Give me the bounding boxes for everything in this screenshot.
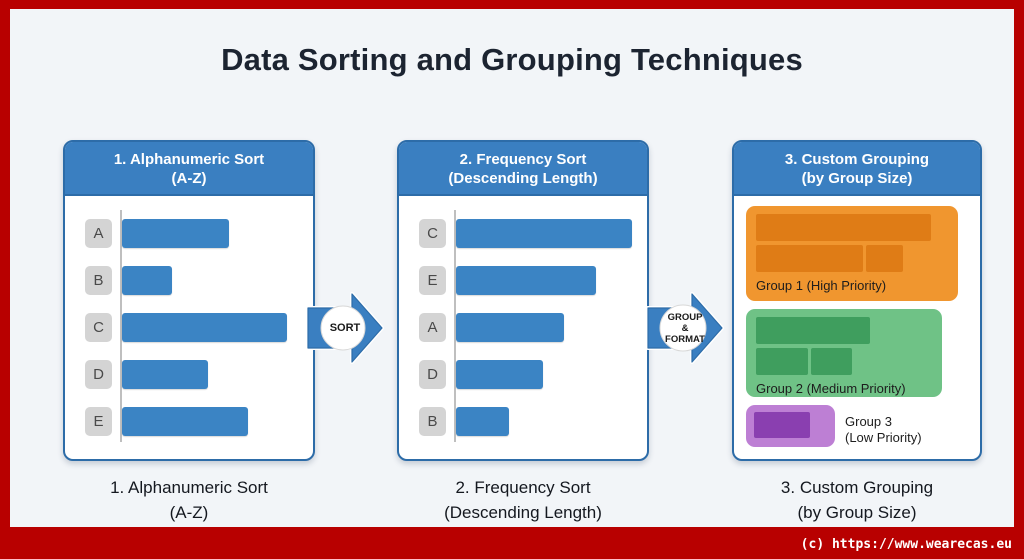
bar bbox=[456, 360, 543, 389]
bar bbox=[122, 266, 172, 295]
page-title: Data Sorting and Grouping Techniques bbox=[10, 42, 1014, 78]
group-label: Group 1 (High Priority) bbox=[756, 278, 948, 293]
bar bbox=[456, 266, 596, 295]
bar-row: E bbox=[409, 257, 637, 304]
panel-1-header-line1: 1. Alphanumeric Sort bbox=[114, 151, 264, 168]
group-box-medium-priority: Group 2 (Medium Priority) bbox=[746, 309, 942, 397]
image-frame: Data Sorting and Grouping Techniques 1. … bbox=[0, 0, 1024, 559]
caption-2-line1: 2. Frequency Sort bbox=[373, 475, 673, 500]
bar-label-chip: B bbox=[85, 266, 112, 295]
caption-3-line1: 3. Custom Grouping bbox=[707, 475, 1007, 500]
group-bar bbox=[756, 214, 931, 241]
watermark-text: (c) https://www.wearecas.eu bbox=[801, 537, 1012, 552]
group-bar bbox=[756, 317, 870, 344]
arrow-shape-icon bbox=[646, 290, 724, 366]
caption-1-line2: (A-Z) bbox=[39, 500, 339, 525]
group-label: Group 2 (Medium Priority) bbox=[756, 381, 932, 396]
group-label-line2: (Low Priority) bbox=[845, 430, 922, 446]
bar-row: D bbox=[75, 351, 303, 398]
bar bbox=[456, 313, 564, 342]
bar-row: B bbox=[409, 398, 637, 445]
group-bar-segment bbox=[756, 348, 808, 375]
bar bbox=[122, 360, 208, 389]
group-bar-segment bbox=[811, 348, 852, 375]
panel-custom-grouping: 3. Custom Grouping (by Group Size) Group… bbox=[732, 140, 982, 461]
bar-row: C bbox=[75, 304, 303, 351]
arrow-group-format: GROUP & FORMAT bbox=[646, 290, 724, 366]
arrow-shape-icon bbox=[306, 290, 384, 366]
bar-row: A bbox=[75, 210, 303, 257]
bar-row: D bbox=[409, 351, 637, 398]
bar-row: B bbox=[75, 257, 303, 304]
panel-2-header-line2: (Descending Length) bbox=[399, 169, 647, 188]
bar-label-chip: E bbox=[85, 407, 112, 436]
caption-alphanumeric-sort: 1. Alphanumeric Sort (A-Z) bbox=[39, 475, 339, 525]
bar-label-chip: D bbox=[419, 360, 446, 389]
bar bbox=[456, 219, 632, 248]
panel-frequency-sort: 2. Frequency Sort (Descending Length) C … bbox=[397, 140, 649, 461]
bar-label-chip: B bbox=[419, 407, 446, 436]
group-bar-segment bbox=[866, 245, 903, 272]
group-bar bbox=[754, 412, 810, 438]
diagram-canvas: Data Sorting and Grouping Techniques 1. … bbox=[10, 9, 1014, 527]
panel-1-header-line2: (A-Z) bbox=[65, 169, 313, 188]
panel-alphanumeric-sort: 1. Alphanumeric Sort (A-Z) A B C bbox=[63, 140, 315, 461]
group-bar-split bbox=[756, 348, 932, 379]
bar-row: A bbox=[409, 304, 637, 351]
arrow-sort: SORT bbox=[306, 290, 384, 366]
group-label-low-priority: Group 3 (Low Priority) bbox=[845, 414, 922, 446]
group-row-low-priority: Group 3 (Low Priority) bbox=[746, 405, 970, 455]
panel-2-body: C E A D B bbox=[399, 196, 647, 459]
group-box-low-priority bbox=[746, 405, 835, 447]
bar-label-chip: A bbox=[419, 313, 446, 342]
bar bbox=[122, 313, 287, 342]
caption-frequency-sort: 2. Frequency Sort (Descending Length) bbox=[373, 475, 673, 525]
bar-row: E bbox=[75, 398, 303, 445]
panel-1-header: 1. Alphanumeric Sort (A-Z) bbox=[65, 142, 313, 196]
caption-2-line2: (Descending Length) bbox=[373, 500, 673, 525]
bar bbox=[456, 407, 509, 436]
group-label-line1: Group 3 bbox=[845, 414, 922, 430]
panel-1-body: A B C D E bbox=[65, 196, 313, 459]
caption-custom-grouping: 3. Custom Grouping (by Group Size) bbox=[707, 475, 1007, 525]
caption-3-line2: (by Group Size) bbox=[707, 500, 1007, 525]
panel-2-header-line1: 2. Frequency Sort bbox=[460, 151, 587, 168]
group-bar-split bbox=[756, 245, 948, 276]
panel-3-header: 3. Custom Grouping (by Group Size) bbox=[734, 142, 980, 196]
panel-3-body: Group 1 (High Priority) Group 2 (Medium … bbox=[734, 196, 980, 459]
footer-bar: (c) https://www.wearecas.eu bbox=[0, 527, 1024, 559]
bar-row: C bbox=[409, 210, 637, 257]
bar bbox=[122, 407, 248, 436]
group-bar-segment bbox=[756, 245, 863, 272]
caption-1-line1: 1. Alphanumeric Sort bbox=[39, 475, 339, 500]
panel-2-header: 2. Frequency Sort (Descending Length) bbox=[399, 142, 647, 196]
panel-3-header-line2: (by Group Size) bbox=[734, 169, 980, 188]
bar bbox=[122, 219, 229, 248]
bar-label-chip: E bbox=[419, 266, 446, 295]
bar-label-chip: C bbox=[85, 313, 112, 342]
bar-label-chip: D bbox=[85, 360, 112, 389]
bar-label-chip: C bbox=[419, 219, 446, 248]
bar-label-chip: A bbox=[85, 219, 112, 248]
panel-3-header-line1: 3. Custom Grouping bbox=[785, 151, 929, 168]
group-box-high-priority: Group 1 (High Priority) bbox=[746, 206, 958, 301]
